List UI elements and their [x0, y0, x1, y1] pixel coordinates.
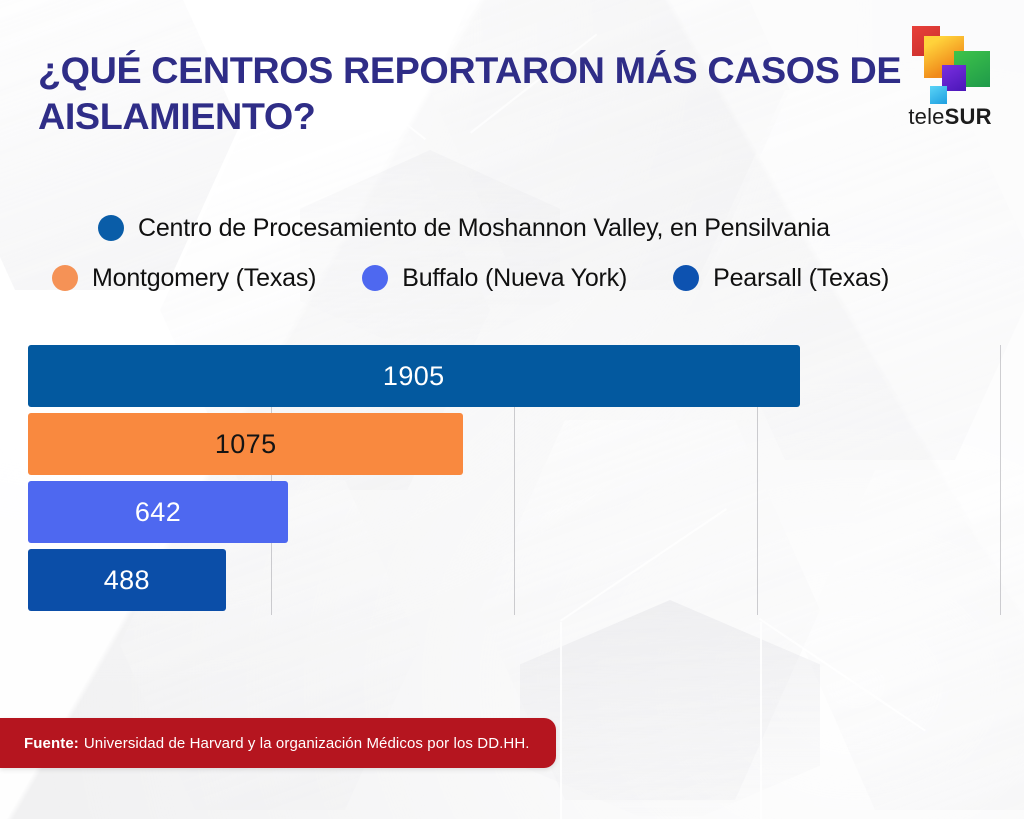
legend-item-moshannon-valley[interactable]: Centro de Procesamiento de Moshannon Val… — [98, 214, 830, 243]
chart-bars: 19051075642488 — [28, 345, 1000, 615]
bar-value-label: 488 — [104, 565, 150, 596]
bar-value-label: 642 — [135, 497, 181, 528]
bar-row: 488 — [28, 549, 1000, 611]
bar-value-label: 1905 — [383, 361, 445, 392]
legend-row-2: Montgomery (Texas) Buffalo (Nueva York) … — [0, 252, 1024, 304]
legend-row-1: Centro de Procesamiento de Moshannon Val… — [0, 204, 1024, 252]
source-text: Universidad de Harvard y la organización… — [84, 735, 530, 752]
bar[interactable]: 488 — [28, 549, 226, 611]
source-prefix: Fuente: — [24, 735, 79, 752]
legend-label: Montgomery (Texas) — [92, 264, 316, 293]
bar-row: 642 — [28, 481, 1000, 543]
logo-square-cyan-icon — [930, 86, 947, 104]
logo-wordmark-sur: SUR — [945, 104, 992, 129]
legend-item-pearsall[interactable]: Pearsall (Texas) — [673, 264, 889, 293]
telesur-logo[interactable]: teleSUR — [898, 18, 1002, 134]
header: ¿QUÉ CENTROS REPORTARON MÁS CASOS DE AIS… — [0, 0, 1024, 170]
bar[interactable]: 642 — [28, 481, 288, 543]
logo-squares — [898, 18, 1002, 106]
bar-chart: 19051075642488 — [28, 345, 1000, 615]
bar[interactable]: 1905 — [28, 345, 800, 407]
legend-item-buffalo[interactable]: Buffalo (Nueva York) — [362, 264, 627, 293]
logo-wordmark: teleSUR — [898, 104, 1002, 130]
legend-label: Buffalo (Nueva York) — [402, 264, 627, 293]
chart-legend: Centro de Procesamiento de Moshannon Val… — [0, 204, 1024, 304]
bar-row: 1075 — [28, 413, 1000, 475]
gridline — [1000, 345, 1001, 615]
logo-wordmark-tele: tele — [908, 104, 944, 129]
legend-label: Pearsall (Texas) — [713, 264, 889, 293]
legend-dot-icon — [673, 265, 699, 291]
legend-dot-icon — [52, 265, 78, 291]
legend-label: Centro de Procesamiento de Moshannon Val… — [138, 214, 830, 243]
source-banner: Fuente: Universidad de Harvard y la orga… — [0, 718, 556, 768]
bar-row: 1905 — [28, 345, 1000, 407]
legend-item-montgomery[interactable]: Montgomery (Texas) — [52, 264, 316, 293]
bar-value-label: 1075 — [215, 429, 277, 460]
bar[interactable]: 1075 — [28, 413, 463, 475]
legend-dot-icon — [362, 265, 388, 291]
legend-dot-icon — [98, 215, 124, 241]
page-title: ¿QUÉ CENTROS REPORTARON MÁS CASOS DE AIS… — [38, 48, 915, 140]
